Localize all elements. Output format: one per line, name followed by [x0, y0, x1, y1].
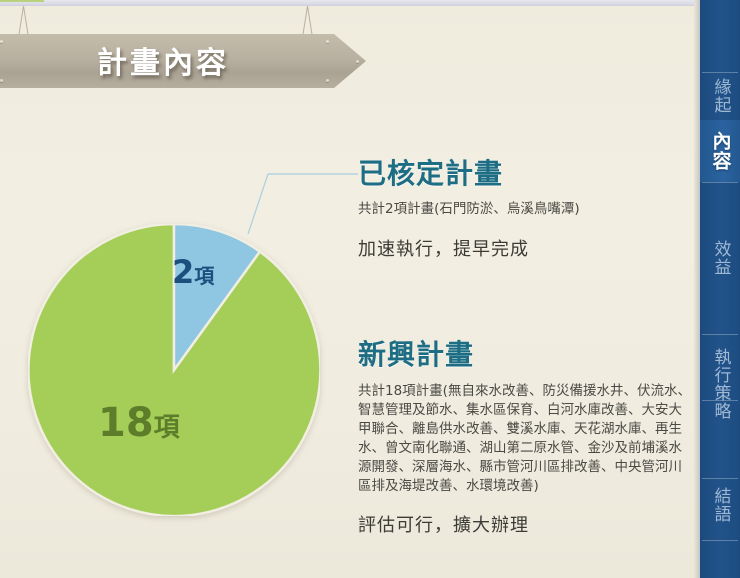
slide-canvas: 計畫內容 2項 18項 已核定計畫 共計2項計畫(石門防淤、烏溪鳥 — [0, 0, 740, 578]
section-subtitle-approved: 共計2項計畫(石門防淤、烏溪鳥嘴潭) — [358, 200, 694, 219]
sidebar-item-label: 執行策略 — [711, 348, 730, 420]
content-column: 已核定計畫 共計2項計畫(石門防淤、烏溪鳥嘴潭) 加速執行，提早完成 新興計畫 … — [358, 0, 694, 578]
pie-label-new-unit: 項 — [154, 413, 180, 443]
nav-separator — [702, 182, 738, 183]
sidebar-item-origin[interactable]: 緣起 — [700, 72, 740, 120]
nav-separator — [702, 540, 738, 541]
sidebar-item-benefit[interactable]: 效益 — [700, 234, 740, 282]
pie-label-approved: 2項 — [172, 253, 214, 291]
pie-label-approved-value: 2 — [172, 253, 194, 291]
pie-label-new: 18項 — [98, 400, 180, 446]
sidebar-nav: 緣起 內容 效益 執行策略 結語 — [700, 0, 740, 578]
sidebar-item-label: 內容 — [711, 131, 730, 171]
section-heading-new: 新興計畫 — [358, 333, 694, 373]
section-heading-approved: 已核定計畫 — [358, 152, 694, 192]
nav-separator — [702, 478, 738, 479]
nav-separator — [702, 400, 738, 401]
sidebar-item-label: 結語 — [711, 487, 730, 523]
section-approved-plans: 已核定計畫 共計2項計畫(石門防淤、烏溪鳥嘴潭) 加速執行，提早完成 — [358, 152, 694, 261]
pie-chart-area: 2項 18項 — [0, 0, 400, 578]
section-new-plans: 新興計畫 共計18項計畫(無自來水改善、防災備援水井、伏流水、智慧管理及節水、集… — [358, 333, 694, 537]
pie-label-new-value: 18 — [98, 400, 154, 446]
section-note-approved: 加速執行，提早完成 — [358, 235, 694, 261]
leader-line-new — [0, 0, 44, 2]
section-subtitle-new: 共計18項計畫(無自來水改善、防災備援水井、伏流水、智慧管理及節水、集水區保育、… — [358, 382, 694, 496]
section-note-new: 評估可行，擴大辦理 — [358, 511, 694, 537]
sidebar-item-label: 緣起 — [711, 78, 730, 114]
sidebar-item-content[interactable]: 內容 — [700, 120, 740, 182]
nav-separator — [702, 334, 738, 335]
sidebar-item-conclusion[interactable]: 結語 — [700, 480, 740, 530]
pie-label-approved-unit: 項 — [194, 264, 214, 288]
sidebar-item-strategy[interactable]: 執行策略 — [700, 338, 740, 430]
sidebar-item-label: 效益 — [711, 240, 730, 276]
